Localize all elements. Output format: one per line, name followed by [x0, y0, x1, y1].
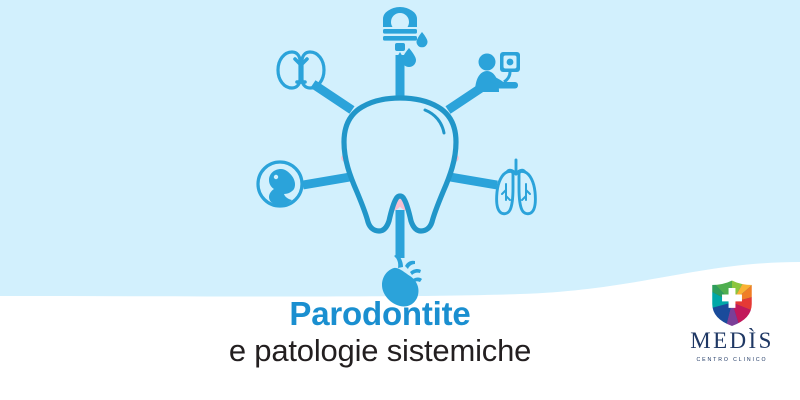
spoke-line-top-left	[313, 84, 352, 110]
spoke-line-left	[303, 177, 350, 185]
lungs-icon	[497, 160, 536, 214]
fetus-icon	[258, 162, 302, 206]
medis-logo: MEDÌS CENTRO CLINICO	[676, 278, 788, 378]
droplet-large-icon	[402, 48, 416, 67]
droplet-small-icon	[417, 32, 428, 47]
glucose-meter-icon	[383, 7, 428, 67]
logo-tagline: CENTRO CLINICO	[676, 358, 788, 363]
logo-wordmark: MEDÌS	[676, 329, 788, 352]
blood-pressure-person-icon	[475, 52, 520, 92]
title-block: Parodontite e patologie sistemiche	[150, 296, 610, 367]
shield-cross-icon	[709, 278, 755, 327]
page-subtitle: e patologie sistemiche	[150, 334, 610, 367]
spoke-line-right	[450, 177, 497, 185]
banner-image: Parodontite e patologie sistemiche	[0, 0, 800, 400]
page-title: Parodontite	[150, 296, 610, 332]
